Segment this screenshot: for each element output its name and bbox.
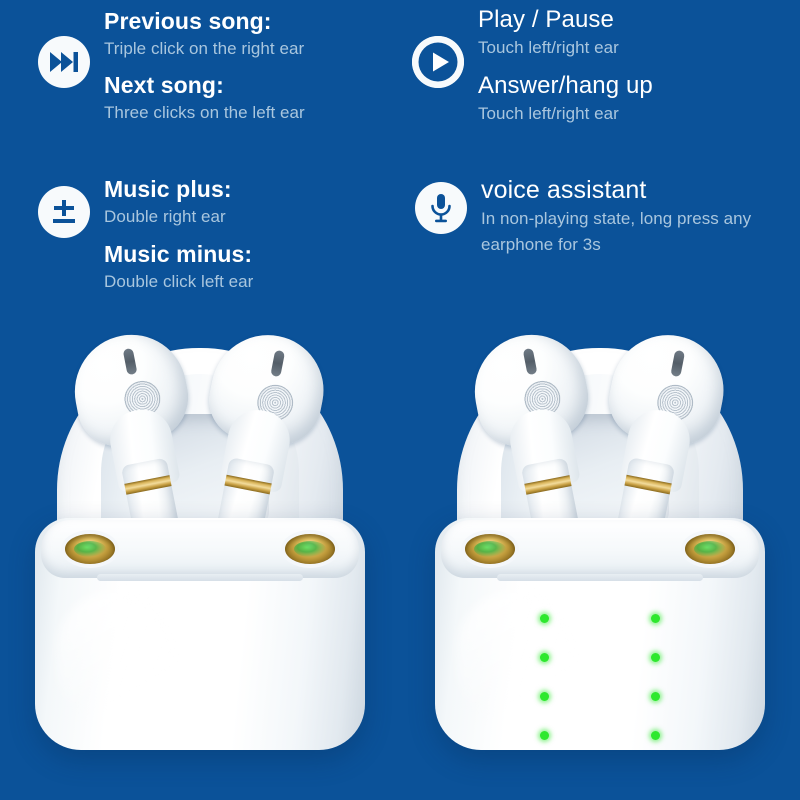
- feature-title: Answer/hang up: [478, 70, 653, 101]
- led-indicator: [651, 614, 660, 623]
- spacer: [478, 60, 653, 70]
- led-indicator: [651, 653, 660, 662]
- led-column: [540, 614, 549, 740]
- led-indicator: [540, 692, 549, 701]
- microphone-icon: [415, 182, 467, 234]
- spacer: [104, 61, 305, 70]
- spacer: [104, 229, 253, 239]
- feature-prev-next-text: Previous song: Triple click on the right…: [104, 6, 305, 125]
- feature-title: Previous song:: [104, 6, 305, 36]
- case-seam: [97, 574, 303, 581]
- feature-list: Previous song: Triple click on the right…: [0, 0, 800, 320]
- case-body: [35, 518, 365, 750]
- feature-subtitle: Three clicks on the left ear: [104, 100, 305, 125]
- charging-case-right: [435, 320, 765, 750]
- feature-voice-assistant-text: voice assistant In non-playing state, lo…: [481, 174, 773, 258]
- feature-title: Music plus:: [104, 174, 253, 204]
- feature-music-volume-text: Music plus: Double right ear Music minus…: [104, 174, 253, 294]
- play-icon: [412, 36, 464, 88]
- case-body: [435, 518, 765, 750]
- feature-title: Music minus:: [104, 239, 253, 269]
- case-highlight: [57, 590, 177, 730]
- feature-subtitle: Touch left/right ear: [478, 101, 653, 126]
- feature-voice-assistant: voice assistant In non-playing state, lo…: [400, 160, 800, 320]
- charging-well-left: [465, 534, 515, 564]
- charging-well-left: [65, 534, 115, 564]
- feature-subtitle: In non-playing state, long press any ear…: [481, 206, 773, 258]
- feature-subtitle: Touch left/right ear: [478, 35, 653, 60]
- product-left: [0, 320, 400, 800]
- led-indicator: [540, 614, 549, 623]
- feature-title: Next song:: [104, 70, 305, 100]
- feature-subtitle: Double click left ear: [104, 269, 253, 294]
- feature-subtitle: Double right ear: [104, 204, 253, 229]
- product-right: [400, 320, 800, 800]
- feature-play-pause-answer: Play / Pause Touch left/right ear Answer…: [400, 0, 800, 160]
- feature-prev-next-song: Previous song: Triple click on the right…: [0, 0, 400, 160]
- plus-minus-icon: [38, 186, 90, 238]
- charging-case-left: [35, 320, 365, 750]
- feature-play-pause-text: Play / Pause Touch left/right ear Answer…: [478, 4, 653, 126]
- led-indicator: [540, 653, 549, 662]
- led-indicator: [540, 731, 549, 740]
- led-column: [651, 614, 660, 740]
- led-indicator: [651, 692, 660, 701]
- feature-music-volume: Music plus: Double right ear Music minus…: [0, 160, 400, 320]
- case-seam: [497, 574, 703, 581]
- charging-well-right: [285, 534, 335, 564]
- skip-forward-icon: [38, 36, 90, 88]
- feature-title: Play / Pause: [478, 4, 653, 35]
- led-indicator: [651, 731, 660, 740]
- battery-led-indicator-array: [540, 614, 660, 740]
- product-stage: [0, 320, 800, 800]
- feature-title: voice assistant: [481, 174, 773, 206]
- feature-subtitle: Triple click on the right ear: [104, 36, 305, 61]
- charging-well-right: [685, 534, 735, 564]
